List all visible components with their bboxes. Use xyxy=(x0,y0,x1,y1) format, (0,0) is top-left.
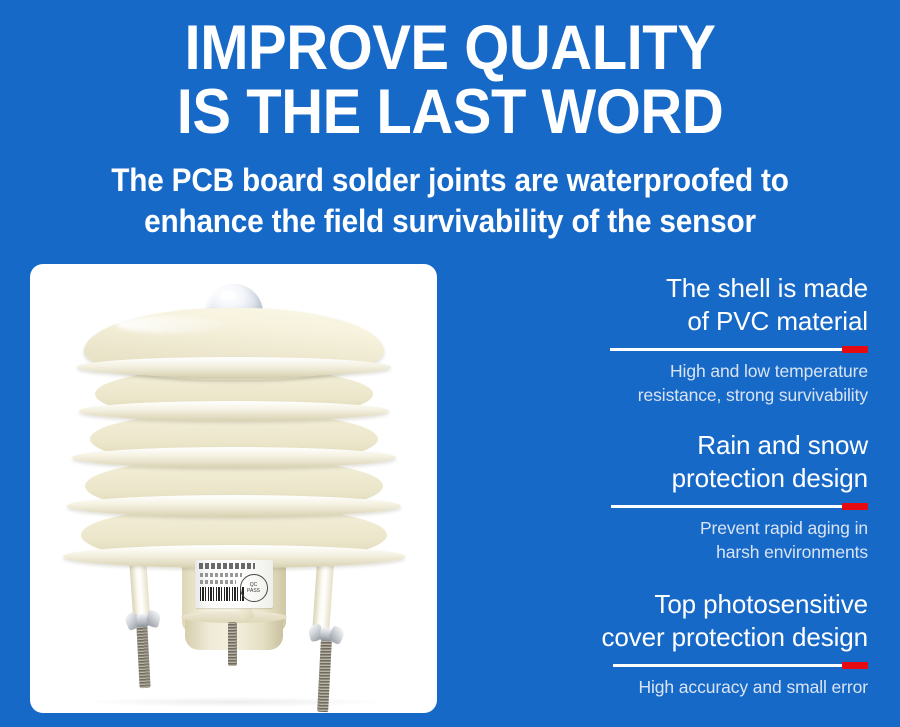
feature-description: High and low temperature resistance, str… xyxy=(450,359,900,407)
feature-list: The shell is made of PVC material High a… xyxy=(450,272,900,717)
feature-desc-line-2: resistance, strong survivability xyxy=(450,383,868,407)
feature-title: Top photosensitive cover protection desi… xyxy=(450,588,900,654)
feature-item-rain-snow-protection: Rain and snow protection design Prevent … xyxy=(450,429,900,564)
qc-stamp-line-2: PASS xyxy=(241,588,267,594)
feature-title-line-2: protection design xyxy=(450,462,868,495)
divider-red-accent xyxy=(842,662,868,669)
feature-desc-line-1: Prevent rapid aging in xyxy=(450,516,868,540)
feature-divider xyxy=(450,502,900,510)
headline-line-2: IS THE LAST WORD xyxy=(36,80,864,144)
threaded-rod-left xyxy=(136,626,150,688)
louver-plate-gloss xyxy=(116,316,224,333)
louver-rim-3 xyxy=(72,447,396,468)
label-spec-row-1 xyxy=(200,573,242,577)
feature-title-line-2: cover protection design xyxy=(450,621,868,654)
subheadline-line-2: enhance the field survivability of the s… xyxy=(32,201,869,242)
wingnut-core-left xyxy=(136,613,149,627)
wingnut-clamp-right xyxy=(308,622,344,647)
product-feature-poster: IMPROVE QUALITY IS THE LAST WORD The PCB… xyxy=(0,0,900,727)
wingnut-clamp-left xyxy=(125,608,161,633)
feature-title-line-1: The shell is made xyxy=(450,272,868,305)
divider-red-accent xyxy=(842,503,868,510)
feature-item-shell-material: The shell is made of PVC material High a… xyxy=(450,272,900,407)
feature-title-line-1: Top photosensitive xyxy=(450,588,868,621)
label-title-text xyxy=(199,563,255,569)
product-label: QC PASS xyxy=(195,560,273,608)
feature-divider xyxy=(450,345,900,353)
louver-rim-4 xyxy=(67,495,401,517)
threaded-rod-center xyxy=(228,622,237,666)
weather-sensor-image: QC PASS xyxy=(30,264,437,713)
label-spec-row-2 xyxy=(200,580,236,584)
feature-description: High accuracy and small error xyxy=(450,675,900,699)
qc-pass-stamp: QC PASS xyxy=(240,574,268,602)
feature-description: Prevent rapid aging in harsh environment… xyxy=(450,516,900,564)
feature-title: The shell is made of PVC material xyxy=(450,272,900,338)
headline-line-1: IMPROVE QUALITY xyxy=(36,16,864,80)
feature-desc-line-1: High accuracy and small error xyxy=(450,675,868,699)
subheadline: The PCB board solder joints are waterpro… xyxy=(0,160,900,242)
divider-white-segment xyxy=(613,664,842,667)
feature-desc-line-1: High and low temperature xyxy=(450,359,868,383)
feature-title: Rain and snow protection design xyxy=(450,429,900,495)
divider-white-segment xyxy=(611,505,842,508)
louver-rim-2 xyxy=(79,401,389,421)
dome-highlight xyxy=(219,291,236,300)
subheadline-line-1: The PCB board solder joints are waterpro… xyxy=(32,160,869,201)
divider-red-accent xyxy=(842,346,868,353)
product-photo-card: QC PASS xyxy=(30,264,437,713)
feature-item-photosensitive-cover: Top photosensitive cover protection desi… xyxy=(450,588,900,699)
louver-rim-top xyxy=(77,357,391,377)
headline: IMPROVE QUALITY IS THE LAST WORD xyxy=(0,16,900,144)
feature-title-line-1: Rain and snow xyxy=(450,429,868,462)
feature-divider xyxy=(450,661,900,669)
threaded-rod-right xyxy=(317,640,332,712)
feature-title-line-2: of PVC material xyxy=(450,305,868,338)
label-barcode xyxy=(200,587,244,601)
feature-desc-line-2: harsh environments xyxy=(450,540,868,564)
divider-white-segment xyxy=(610,348,842,351)
wingnut-core-right xyxy=(319,627,332,641)
